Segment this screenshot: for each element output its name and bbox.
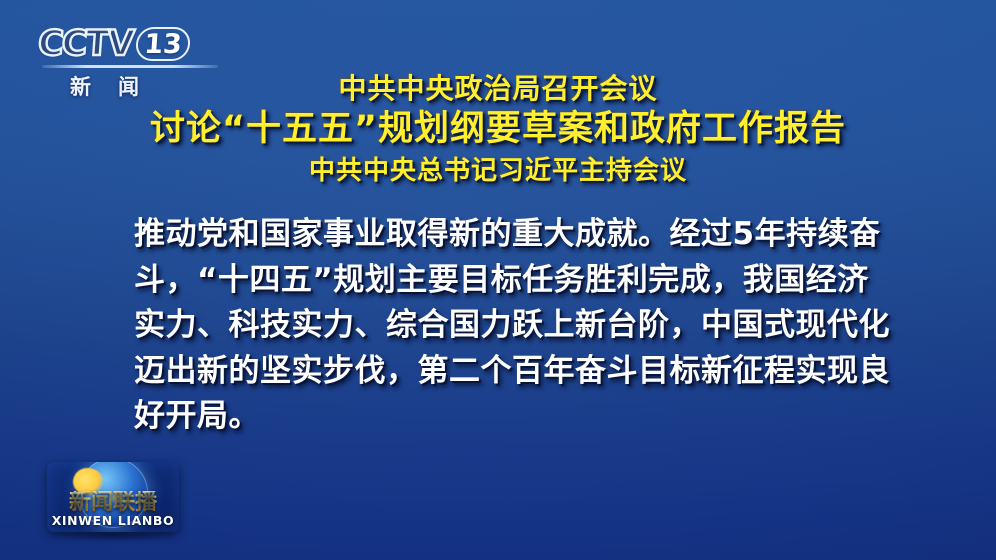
- body-line: 推动党和国家事业取得新的重大成就。经过5年持续奋: [134, 212, 874, 258]
- broadcast-screen: CCTV 13 新 闻 中共中央政治局召开会议 讨论“十五五”规划纲要草案和政府…: [0, 0, 996, 560]
- channel-bug-row: CCTV 13: [38, 24, 228, 64]
- channel-name-char-1: 新: [70, 71, 92, 101]
- channel-name: 新 闻: [38, 71, 228, 101]
- body-copy-block: 推动党和国家事业取得新的重大成就。经过5年持续奋 斗，“十四五”规划主要目标任务…: [134, 212, 874, 440]
- program-logo-title: 新闻联播: [47, 491, 179, 515]
- body-line: 斗，“十四五”规划主要目标任务胜利完成，我国经济: [134, 258, 874, 304]
- program-logo-pinyin: XINWEN LIANBO: [47, 514, 179, 528]
- cctv-wordmark: CCTV: [37, 24, 134, 64]
- body-line: 好开局。: [134, 394, 874, 440]
- channel-number-badge: 13: [135, 27, 191, 61]
- headline-line-3: 中共中央总书记习近平主持会议: [0, 156, 996, 187]
- channel-name-char-2: 闻: [118, 71, 140, 101]
- headline-line-2: 讨论“十五五”规划纲要草案和政府工作报告: [0, 109, 996, 150]
- body-line: 实力、科技实力、综合国力跃上新台阶，中国式现代化: [134, 303, 874, 349]
- channel-bug: CCTV 13 新 闻: [38, 24, 228, 98]
- channel-bug-underline: [42, 65, 218, 68]
- body-line: 迈出新的坚实步伐，第二个百年奋斗目标新征程实现良: [134, 349, 874, 395]
- program-logo: 新闻联播 XINWEN LIANBO: [47, 462, 179, 532]
